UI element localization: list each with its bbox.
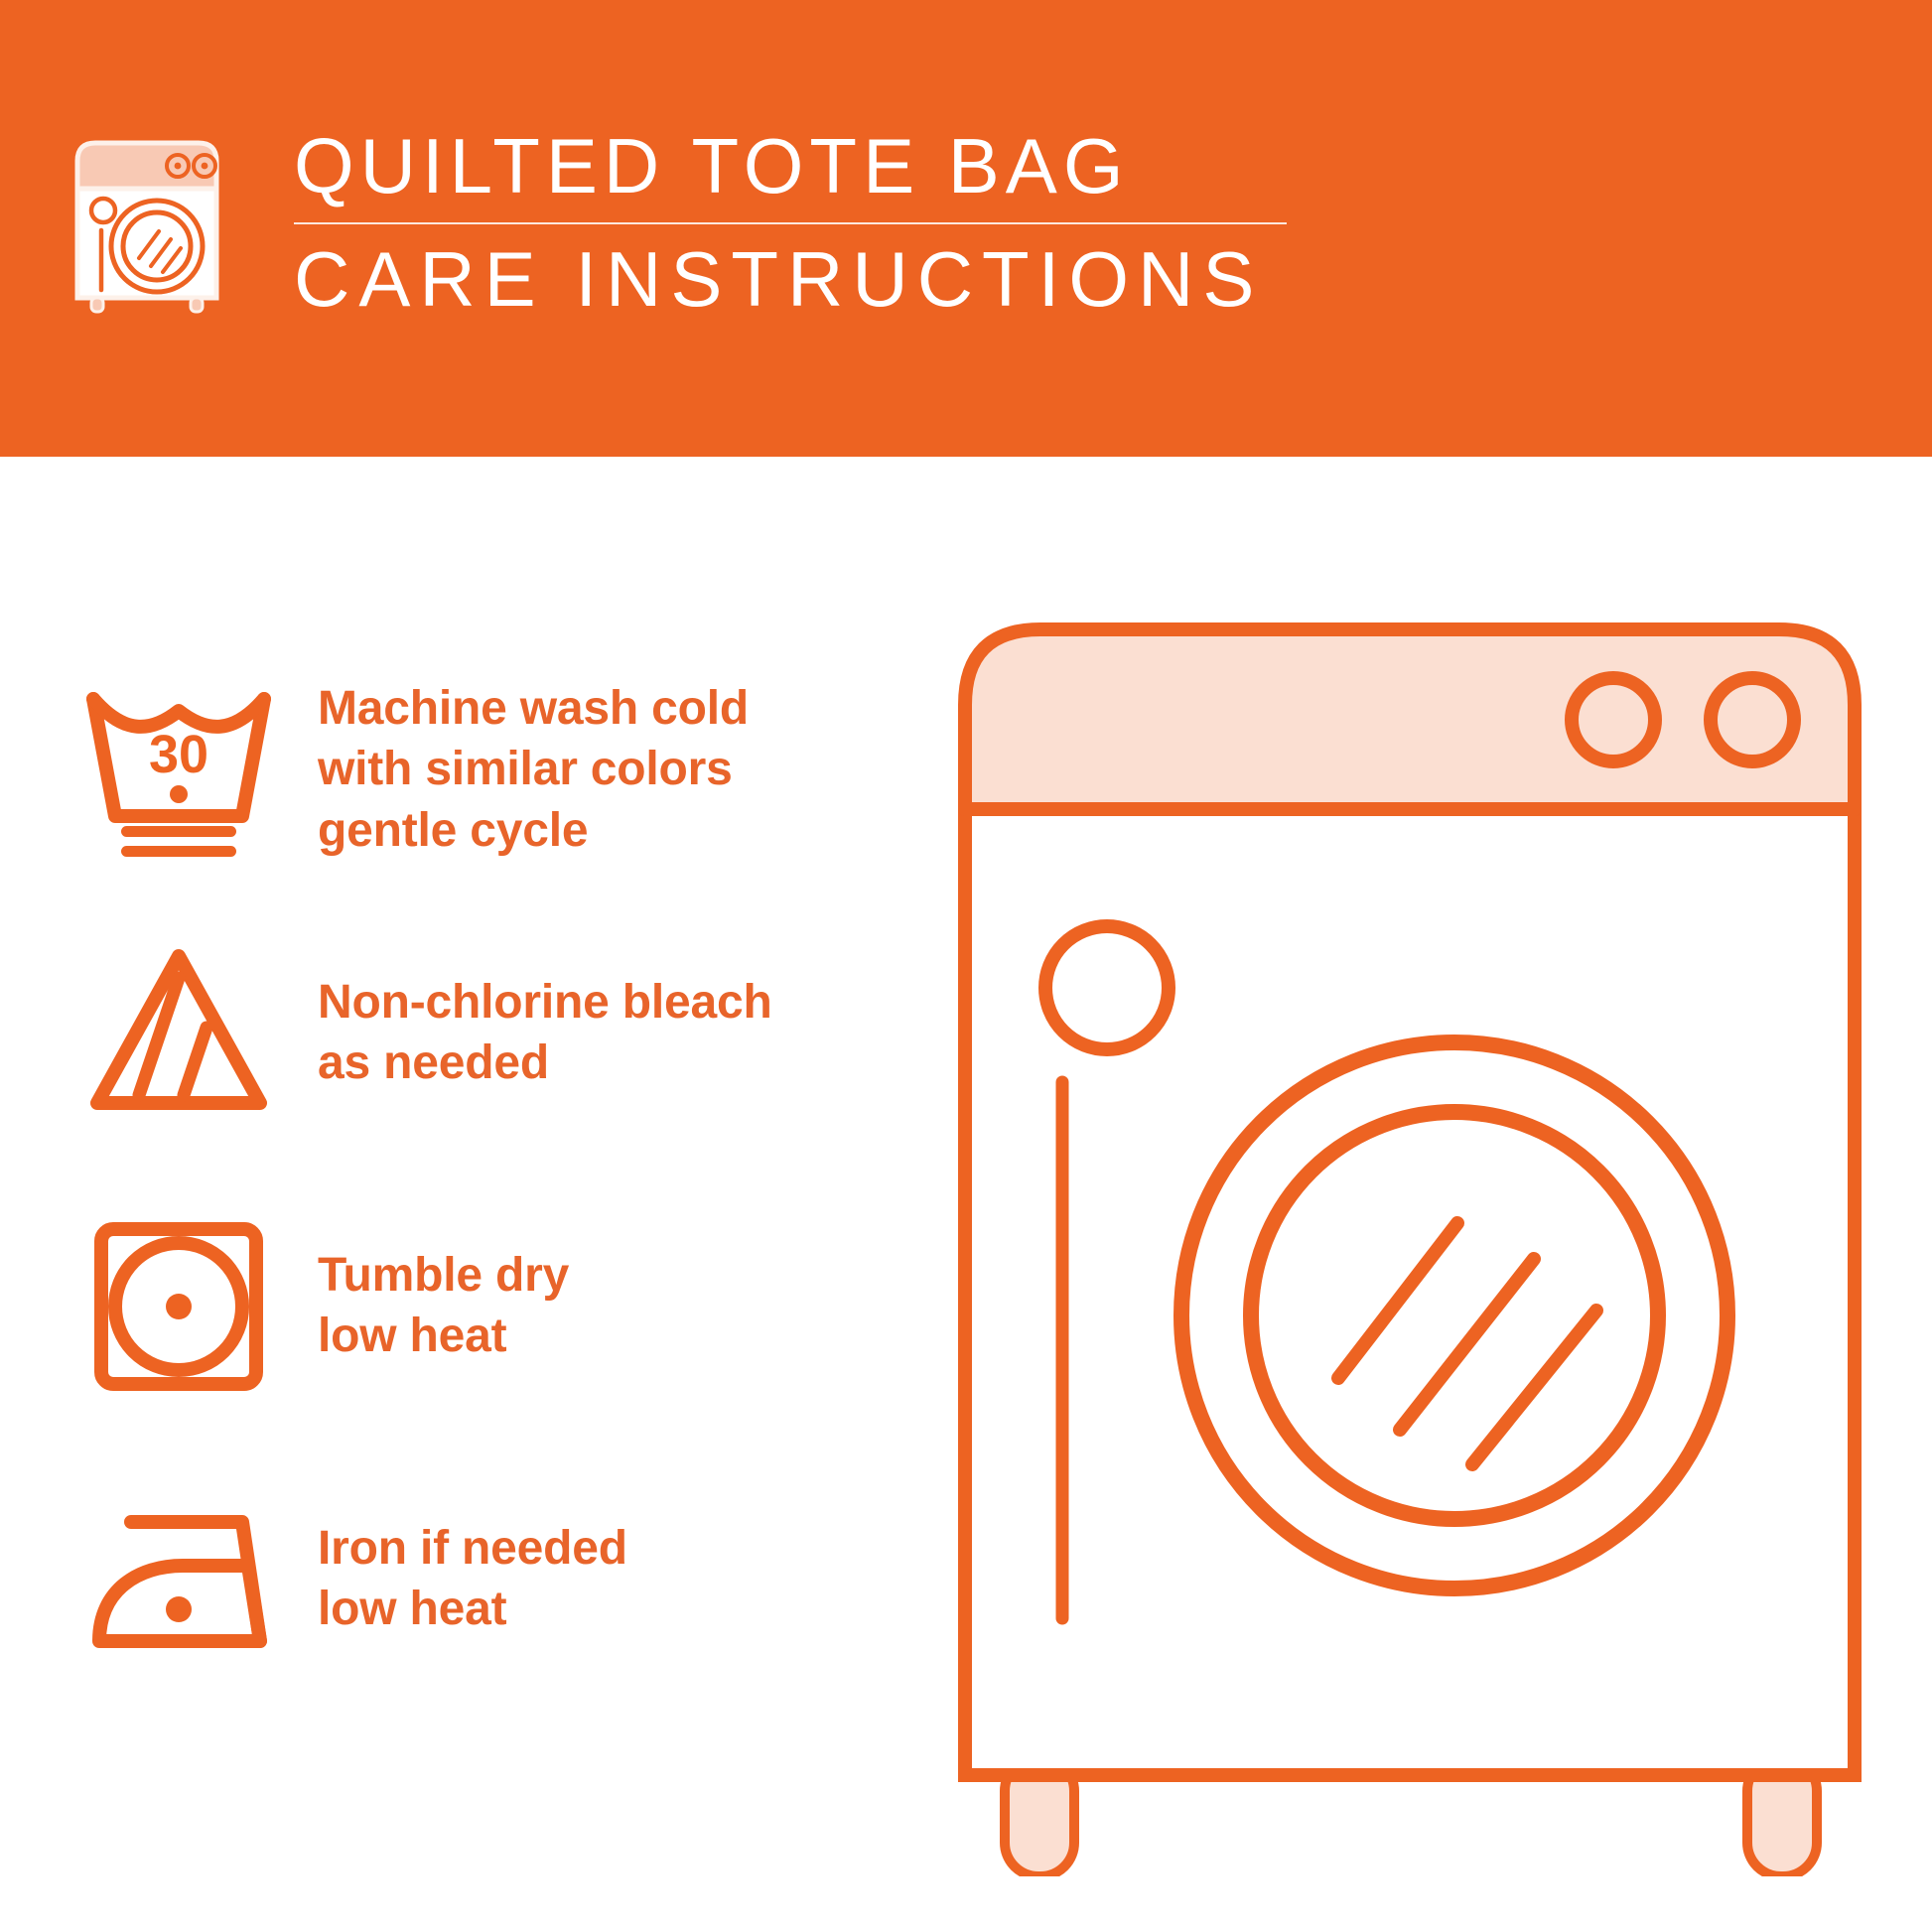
list-item: 30 Machine wash cold with similar colors… (79, 675, 874, 864)
wash-basin-30-gentle-icon: 30 (79, 675, 278, 864)
list-item: Tumble dry low heat (79, 1211, 874, 1400)
header-content: QUILTED TOTE BAG CARE INSTRUCTIONS (71, 127, 1287, 318)
care-instruction-list: 30 Machine wash cold with similar colors… (0, 457, 894, 1932)
iron-low-heat-icon (79, 1484, 278, 1673)
washer-knob-right[interactable] (1711, 678, 1794, 761)
list-item: Non-chlorine bleach as needed (79, 938, 874, 1127)
tumble-dry-low-icon (79, 1211, 278, 1400)
header-title-group: QUILTED TOTE BAG CARE INSTRUCTIONS (294, 127, 1287, 318)
list-item-label: Iron if needed low heat (318, 1518, 627, 1640)
washer-indicator-light (1045, 926, 1169, 1049)
wash-temperature-label: 30 (149, 725, 208, 784)
washing-machine-illustration (953, 616, 1866, 1876)
header-band: QUILTED TOTE BAG CARE INSTRUCTIONS (0, 0, 1932, 457)
washing-machine-icon (71, 135, 222, 314)
list-item: Iron if needed low heat (79, 1484, 874, 1673)
non-chlorine-bleach-triangle-icon (79, 938, 278, 1127)
page-subtitle: CARE INSTRUCTIONS (294, 240, 1287, 318)
list-item-label: Machine wash cold with similar colors ge… (318, 678, 749, 861)
page-title: QUILTED TOTE BAG (294, 127, 1287, 205)
washer-knob-left[interactable] (1572, 678, 1655, 761)
list-item-label: Tumble dry low heat (318, 1245, 569, 1367)
list-item-label: Non-chlorine bleach as needed (318, 972, 772, 1094)
title-divider (294, 222, 1287, 224)
